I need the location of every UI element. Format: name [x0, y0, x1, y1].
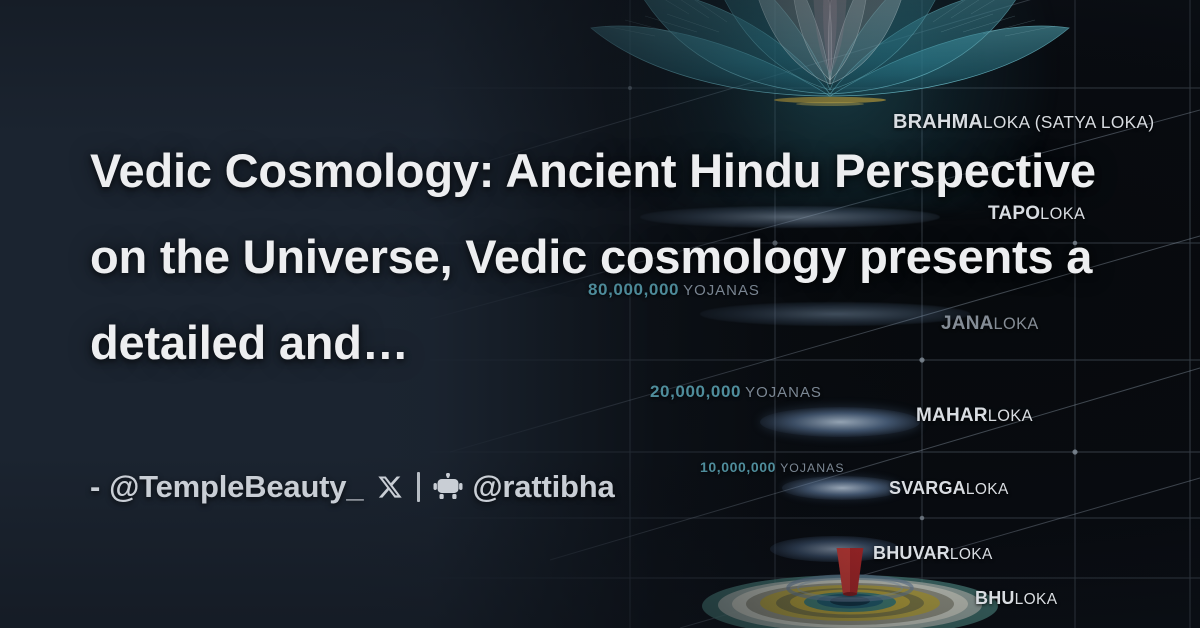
distance-unit: YOJANAS [780, 461, 844, 475]
loka-name-strong: BHUVAR [873, 543, 950, 563]
loka-name-light: LOKA [950, 546, 993, 563]
x-logo-icon[interactable] [377, 474, 403, 500]
attribution: - @TempleBeauty_ @rattibha [90, 469, 615, 505]
loka-name-strong: MAHAR [916, 405, 988, 426]
distance-label-10m: 10,000,000YOJANAS [700, 459, 845, 475]
page-title: Vedic Cosmology: Ancient Hindu Perspecti… [90, 128, 1105, 386]
robot-icon [433, 473, 463, 501]
distance-unit: YOJANAS [745, 384, 822, 401]
loka-name-light: LOKA [988, 407, 1033, 425]
label-bhuvarloka: BHUVARLOKA [873, 543, 993, 564]
author-handle: @TempleBeauty_ [109, 469, 363, 505]
service-handle[interactable]: @rattibha [472, 469, 614, 505]
label-svargaloka: SVARGALOKA [889, 478, 1009, 499]
label-maharloka: MAHARLOKA [916, 405, 1033, 427]
loka-name-strong: SVARGA [889, 478, 966, 498]
separator [417, 472, 420, 502]
loka-name-strong: BHU [975, 588, 1015, 608]
loka-name-light: LOKA [1015, 591, 1058, 608]
rattibha-share-card: BRAHMALOKA (SATYA LOKA) TAPOLOKA JANALOK… [0, 0, 1200, 628]
label-bhuloka: BHULOKA [975, 588, 1057, 609]
attribution-dash: - [90, 469, 100, 505]
loka-name-light: LOKA [966, 481, 1009, 498]
distance-number: 10,000,000 [700, 459, 776, 475]
